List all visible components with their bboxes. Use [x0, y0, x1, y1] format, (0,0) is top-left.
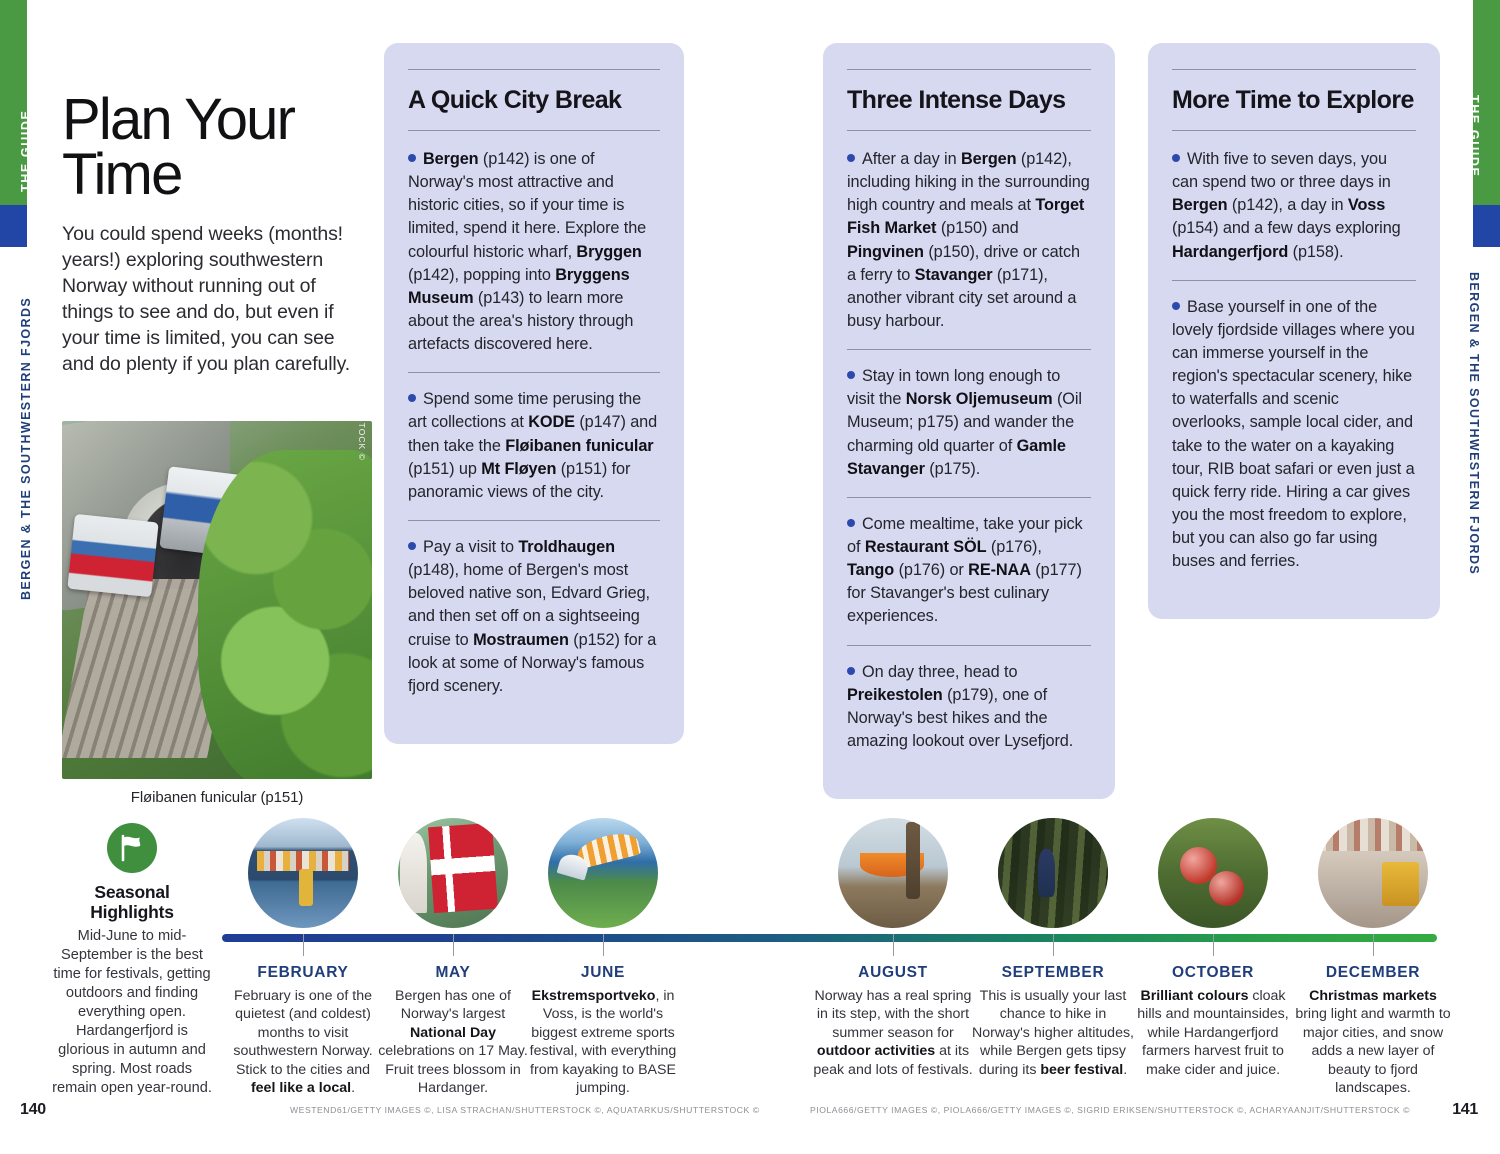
- month-photo: [838, 818, 948, 928]
- highlight-term: feel like a local: [251, 1080, 351, 1096]
- body-text: bring light and warmth to major cities, …: [1295, 1006, 1450, 1096]
- body-text: February is one of the quietest (and col…: [233, 988, 372, 1078]
- month-name: FEBRUARY: [222, 964, 384, 982]
- highlight-term: outdoor activities: [817, 1043, 935, 1059]
- highlight-term: National Day: [410, 1025, 496, 1041]
- timeline-month: SEPTEMBERThis is usually your last chanc…: [972, 818, 1134, 1079]
- timeline-tick: [1213, 934, 1214, 956]
- month-description: Ekstremsportveko, in Voss, is the world'…: [522, 987, 684, 1098]
- timeline-month: DECEMBERChristmas markets bring light an…: [1292, 818, 1454, 1098]
- timeline-month: FEBRUARYFebruary is one of the quietest …: [222, 818, 384, 1098]
- month-description: Norway has a real spring in its step, wi…: [812, 987, 974, 1079]
- timeline-months: FEBRUARYFebruary is one of the quietest …: [0, 0, 1500, 1154]
- month-name: SEPTEMBER: [972, 964, 1134, 982]
- highlight-term: Brilliant colours: [1140, 988, 1248, 1004]
- body-text: Bergen has one of Norway's largest: [395, 988, 511, 1022]
- month-photo: [1318, 818, 1428, 928]
- highlight-term: Ekstremsportveko: [532, 988, 656, 1004]
- timeline-tick: [603, 934, 604, 956]
- timeline-tick: [1373, 934, 1374, 956]
- timeline-tick: [303, 934, 304, 956]
- month-name: OCTOBER: [1132, 964, 1294, 982]
- month-description: Brilliant colours cloak hills and mounta…: [1132, 987, 1294, 1079]
- photo-credits-left: WESTEND61/GETTY IMAGES ©, LISA STRACHAN/…: [290, 1105, 760, 1115]
- body-text: , in Voss, is the world's biggest extrem…: [530, 988, 677, 1096]
- month-description: This is usually your last chance to hike…: [972, 987, 1134, 1079]
- month-description: February is one of the quietest (and col…: [222, 987, 384, 1098]
- page-number-left: 140: [20, 1101, 46, 1119]
- page-number-right: 141: [1452, 1101, 1478, 1119]
- body-text: .: [1123, 1062, 1127, 1078]
- month-photo: [998, 818, 1108, 928]
- month-name: AUGUST: [812, 964, 974, 982]
- month-name: MAY: [372, 964, 534, 982]
- timeline-month: OCTOBERBrilliant colours cloak hills and…: [1132, 818, 1294, 1079]
- timeline-month: MAYBergen has one of Norway's largest Na…: [372, 818, 534, 1098]
- month-name: JUNE: [522, 964, 684, 982]
- photo-credits-right: PIOLA666/GETTY IMAGES ©, PIOLA666/GETTY …: [810, 1105, 1410, 1115]
- highlight-term: Christmas markets: [1309, 988, 1437, 1004]
- month-photo: [398, 818, 508, 928]
- month-photo: [248, 818, 358, 928]
- timeline-tick: [1053, 934, 1054, 956]
- timeline-tick: [453, 934, 454, 956]
- body-text: celebrations on 17 May. Fruit trees blos…: [378, 1043, 528, 1096]
- timeline-tick: [893, 934, 894, 956]
- timeline-month: JUNEEkstremsportveko, in Voss, is the wo…: [522, 818, 684, 1098]
- timeline-month: AUGUSTNorway has a real spring in its st…: [812, 818, 974, 1079]
- body-text: Norway has a real spring in its step, wi…: [815, 988, 972, 1041]
- month-description: Bergen has one of Norway's largest Natio…: [372, 987, 534, 1098]
- month-description: Christmas markets bring light and warmth…: [1292, 987, 1454, 1098]
- month-photo: [548, 818, 658, 928]
- month-name: DECEMBER: [1292, 964, 1454, 982]
- body-text: .: [351, 1080, 355, 1096]
- month-photo: [1158, 818, 1268, 928]
- highlight-term: beer festival: [1040, 1062, 1123, 1078]
